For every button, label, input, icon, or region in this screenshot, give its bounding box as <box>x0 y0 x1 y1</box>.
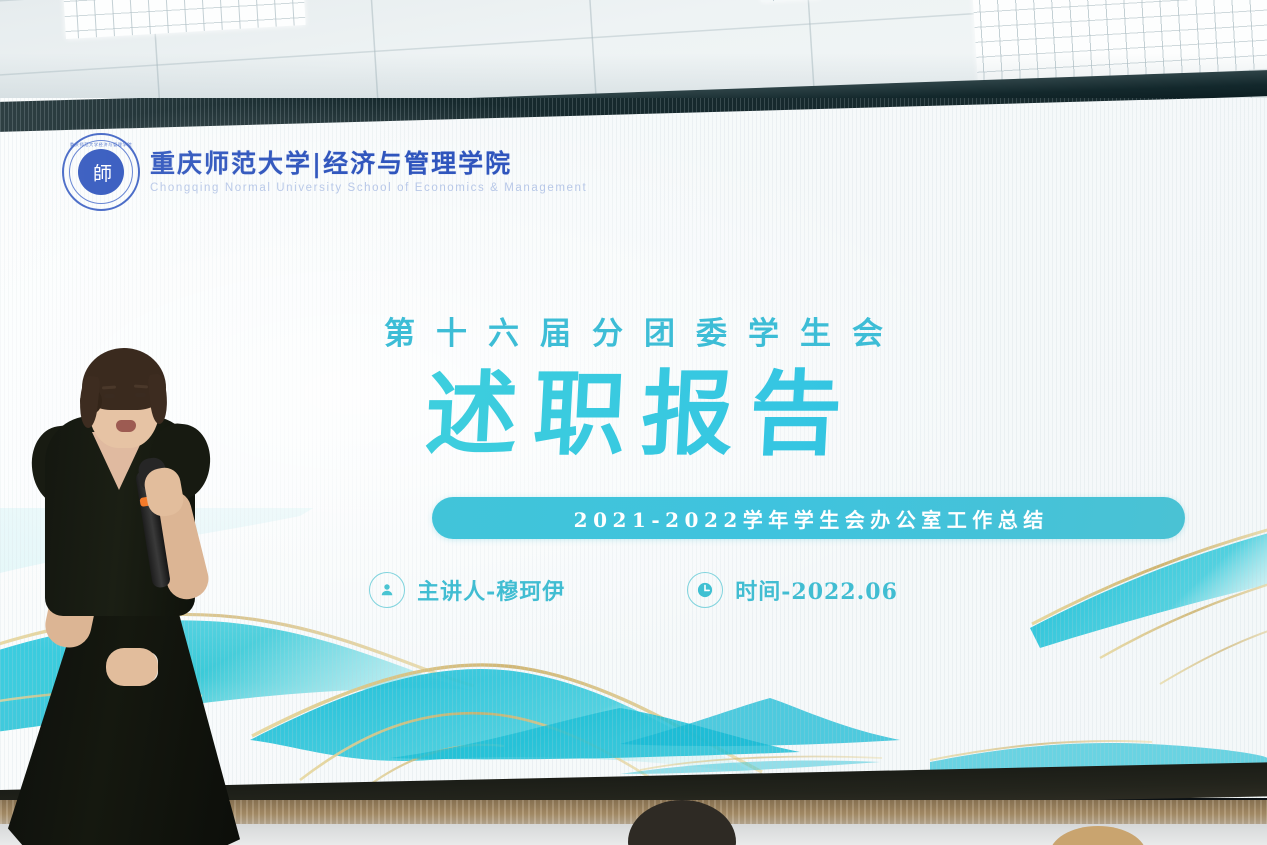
date-meta: 时间-2022.06 <box>687 572 898 608</box>
seal-arc-text: 重庆师范大学经济与管理学院 <box>64 142 138 148</box>
presenter-eye-right <box>135 393 146 397</box>
screen-top-bezel <box>0 98 1267 132</box>
seal-inner-ring <box>69 140 133 204</box>
slide-subtitle-pill: 2021-2022学年学生会办公室工作总结 <box>432 497 1185 539</box>
presenter-left-hand <box>106 648 158 686</box>
university-logo: 重庆师范大学经济与管理学院 師 重庆师范大学|经济与管理学院 Chongqing… <box>62 133 587 211</box>
presenter-mouth <box>116 420 136 432</box>
date-meta-text: 时间-2022.06 <box>735 574 898 606</box>
presenter <box>0 370 300 845</box>
person-icon <box>369 572 405 608</box>
slide-kicker: 第十六届分团委学生会 <box>0 308 1267 353</box>
logo-name-en: Chongqing Normal University School of Ec… <box>150 182 587 194</box>
logo-name-cn: 重庆师范大学|经济与管理学院 <box>150 150 587 178</box>
logo-text-block: 重庆师范大学|经济与管理学院 Chongqing Normal Universi… <box>150 150 587 194</box>
speaker-meta-text: 主讲人-穆珂伊 <box>417 574 565 606</box>
speaker-meta: 主讲人-穆珂伊 <box>369 572 565 608</box>
clock-icon <box>687 572 723 608</box>
presenter-eye-left <box>104 394 115 398</box>
presenter-skirt <box>8 582 240 845</box>
presentation-room-photo: 重庆师范大学经济与管理学院 師 重庆师范大学|经济与管理学院 Chongqing… <box>0 0 1267 845</box>
slide-subtitle-text: 2021-2022学年学生会办公室工作总结 <box>568 504 1049 533</box>
cqnu-seal-emblem: 重庆师范大学经济与管理学院 師 <box>62 133 140 211</box>
